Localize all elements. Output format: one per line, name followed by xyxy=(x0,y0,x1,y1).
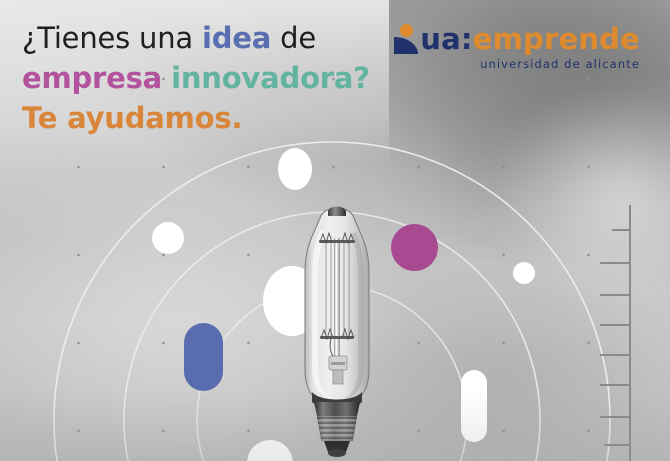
headline-line-3: Te ayudamos. xyxy=(22,98,370,138)
decorative-circle-white-2 xyxy=(278,148,312,190)
logo-text-ua: ua: xyxy=(420,22,472,56)
decorative-pill-white xyxy=(461,370,487,442)
promotional-poster: ¿Tienes una idea de empresa innovadora? … xyxy=(0,0,670,461)
headline: ¿Tienes una idea de empresa innovadora? … xyxy=(22,18,370,138)
ua-emprende-logo: ua:emprende universidad de alicante xyxy=(392,20,640,70)
headline-space xyxy=(162,61,171,95)
headline-word-de: de xyxy=(271,21,316,55)
ua-logo-mark-icon xyxy=(392,24,412,54)
logo-text-emprende: emprende xyxy=(473,22,640,56)
decorative-circle-white-1 xyxy=(152,222,184,254)
headline-line-1: ¿Tienes una idea de xyxy=(22,18,370,58)
lightbulb-illustration xyxy=(286,202,388,461)
headline-word-empresa: empresa xyxy=(22,61,162,95)
headline-line-2: empresa innovadora? xyxy=(22,58,370,98)
logo-mark-wedge-icon xyxy=(394,37,418,54)
decorative-circle-white-4 xyxy=(513,262,535,284)
logo-mark-circle-icon xyxy=(400,24,413,37)
logo-wordmark-row: ua:emprende xyxy=(392,20,640,54)
decorative-circle-magenta xyxy=(391,224,438,271)
headline-word-te-ayudamos: Te ayudamos. xyxy=(22,101,242,135)
vertical-measuring-scale xyxy=(600,205,670,461)
headline-word-idea: idea xyxy=(202,21,271,55)
headline-word-tienes-una: ¿Tienes una xyxy=(22,21,202,55)
logo-subtitle: universidad de alicante xyxy=(392,57,640,71)
headline-word-innovadora: innovadora? xyxy=(171,61,370,95)
decorative-pill-blue xyxy=(184,323,223,391)
logo-wordmark: ua:emprende xyxy=(420,24,640,54)
